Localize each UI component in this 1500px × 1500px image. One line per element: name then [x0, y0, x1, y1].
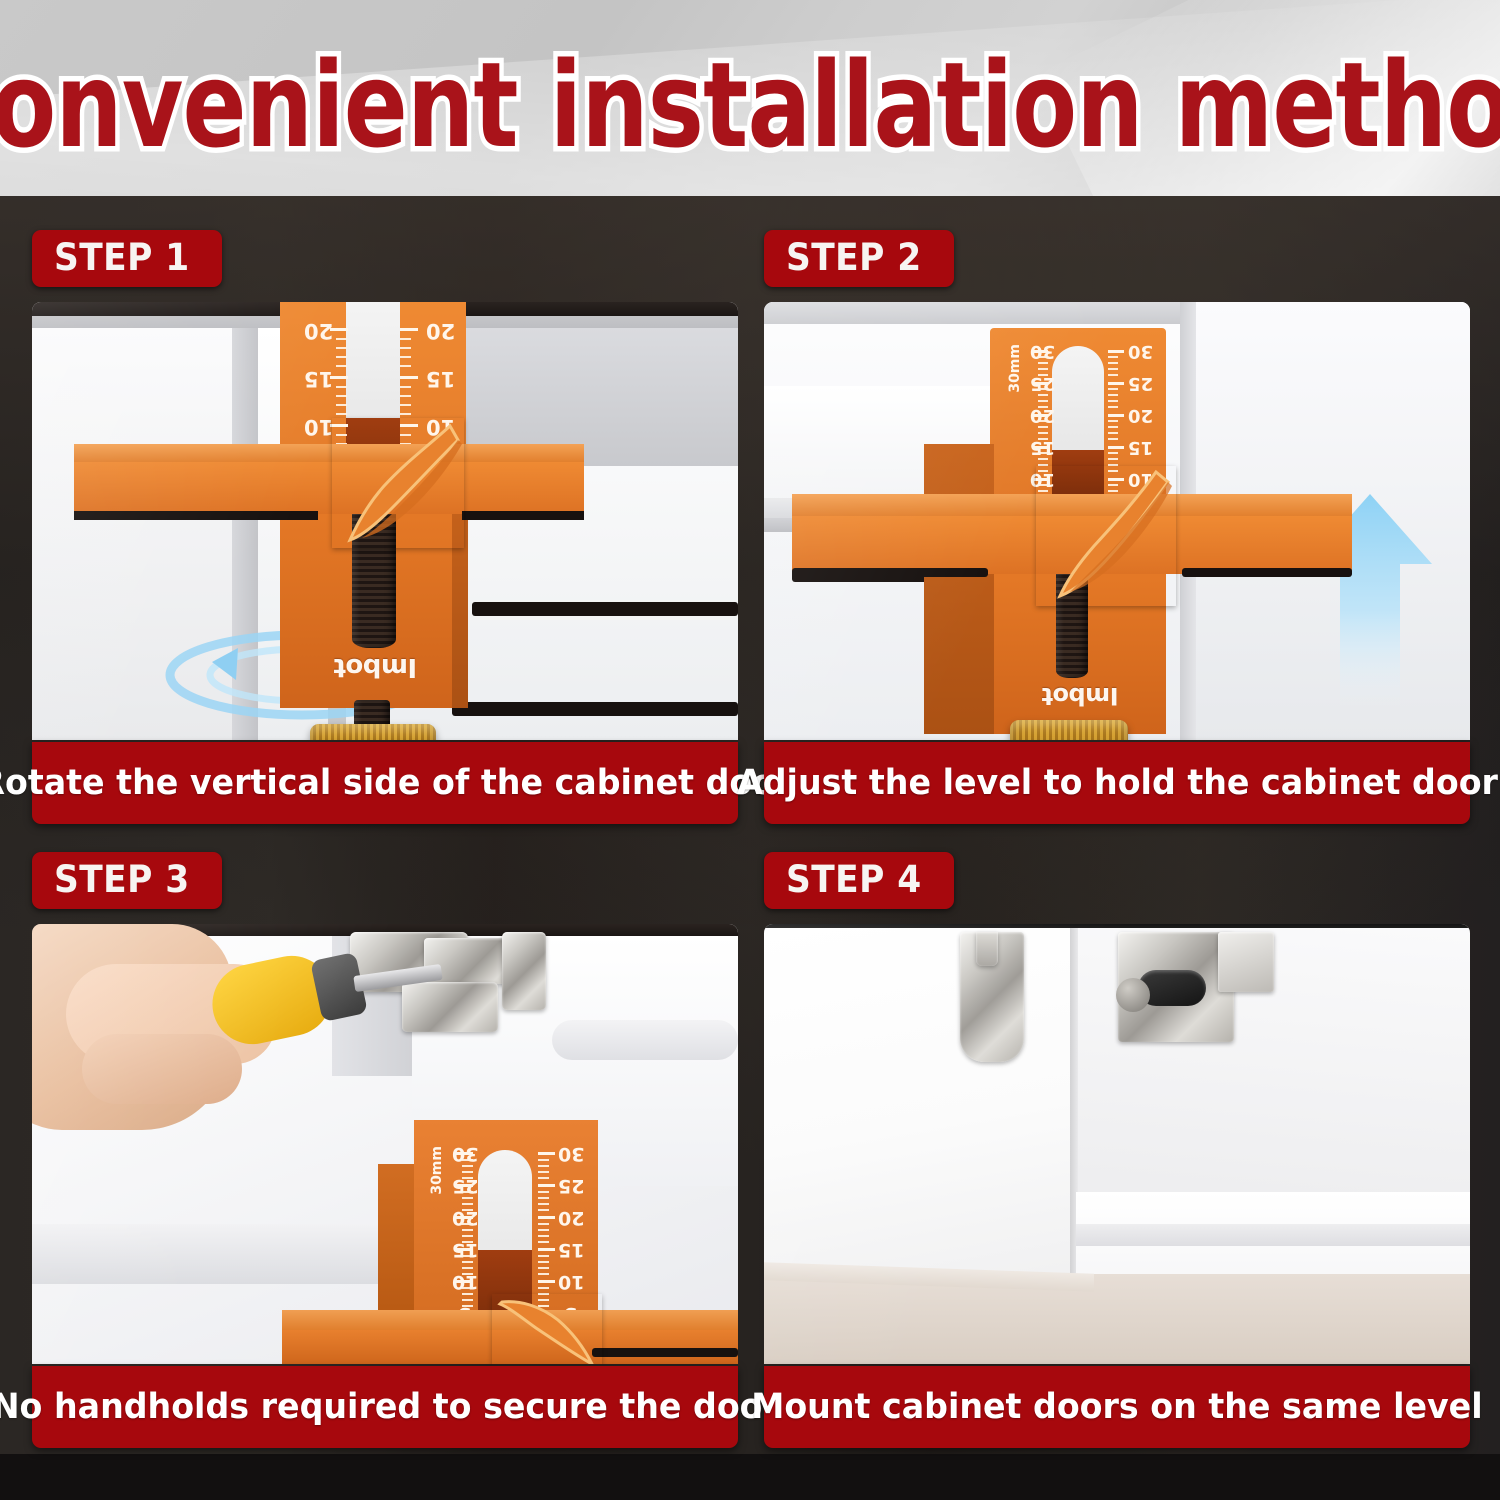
foam-strip	[552, 1020, 738, 1060]
drawer-handle-2	[452, 702, 738, 716]
step-badge-label-2: STEP 2	[786, 239, 922, 276]
step-photo-1: 20 15 10 5 0 20 15 10 5 0	[32, 302, 738, 740]
step-caption-text-3: No handholds required to secure the door	[0, 1387, 779, 1427]
scale-num-l-20: 20	[304, 320, 333, 341]
cabinet-hinge-base	[402, 982, 498, 1032]
cam-lever	[332, 418, 464, 548]
tool-arm-pad-3	[592, 1348, 738, 1357]
cabinet-hinge-plate	[502, 932, 546, 1010]
s2-num-r-25: 25	[1128, 374, 1153, 392]
step-caption-2: Adjust the level to hold the cabinet doo…	[764, 742, 1470, 824]
step-caption-1: Rotate the vertical side of the cabinet …	[32, 742, 738, 824]
tool-arm-face	[74, 462, 584, 514]
step-card-2: STEP 2	[756, 230, 1478, 836]
brass-knurled-knob	[310, 724, 436, 740]
step-badge-label-4: STEP 4	[786, 861, 922, 898]
page-title: Convenient installation method	[150, 0, 1350, 196]
brand-logo-2: Imbot	[1042, 684, 1119, 708]
cabinet-floor	[764, 1274, 1470, 1364]
scale-unit-label-3: 30mm	[430, 1146, 444, 1195]
step-photo-3: 30mm 30 25 20 15 10 5 0 30 25 20 15 10 5	[32, 924, 738, 1364]
s3-num-r-10: 10	[558, 1272, 584, 1291]
scale-num-l-10: 10	[304, 416, 333, 437]
scale-num-l-15: 15	[304, 368, 333, 389]
steps-grid: STEP 1	[0, 196, 1500, 1454]
scene-mounted-doors	[764, 924, 1470, 1364]
infographic-root: Convenient installation method STEP 1	[0, 0, 1500, 1500]
s3-num-r-20: 20	[558, 1208, 584, 1227]
s3-num-r-25: 25	[558, 1176, 584, 1195]
tool-arm-pad-right	[462, 511, 584, 520]
scale-unit-label-2: 30mm	[1008, 344, 1022, 393]
scale-num-r-15: 15	[426, 368, 455, 389]
hinge-pin-left	[976, 932, 998, 966]
step-badge-1: STEP 1	[32, 230, 222, 287]
scale-num-r-20: 20	[426, 320, 455, 341]
step-badge-4: STEP 4	[764, 852, 954, 909]
scene-adjust-level: 30mm 30 25 20 15 10 5 0 30 25 20 15 10 5	[764, 302, 1470, 740]
tool-back-flange	[924, 444, 994, 734]
step-photo-2: 30mm 30 25 20 15 10 5 0 30 25 20 15 10 5	[764, 302, 1470, 740]
step-caption-4: Mount cabinet doors on the same level	[764, 1366, 1470, 1448]
step-caption-text-4: Mount cabinet doors on the same level	[751, 1387, 1482, 1427]
step-card-1: STEP 1	[24, 230, 746, 836]
header-banner: Convenient installation method	[0, 0, 1500, 196]
step-badge-label-3: STEP 3	[54, 861, 190, 898]
s2-num-r-20: 20	[1128, 406, 1153, 424]
tool-arm-pad-left-2	[792, 568, 988, 577]
cam-lever-3	[492, 1294, 602, 1364]
footer-strip	[0, 1454, 1500, 1500]
scene-rotate-knob: 20 15 10 5 0 20 15 10 5 0	[32, 302, 738, 740]
cam-lever-2	[1036, 466, 1176, 606]
tool-arm-top	[74, 444, 584, 462]
scene-secure-door: 30mm 30 25 20 15 10 5 0 30 25 20 15 10 5	[32, 924, 738, 1364]
brass-knurled-knob-2	[1010, 720, 1128, 740]
hinge-wing-right	[1218, 932, 1274, 992]
tool-arm-pad-left	[74, 511, 318, 520]
hinge-screw-head	[1116, 978, 1150, 1012]
s2-num-r-15: 15	[1128, 438, 1153, 456]
s2-num-r-30: 30	[1128, 342, 1153, 360]
tool-arm-pad-right-2	[1182, 568, 1352, 577]
s3-num-r-15: 15	[558, 1240, 584, 1259]
bottom-shelf-edge	[1076, 1224, 1470, 1246]
step-badge-3: STEP 3	[32, 852, 222, 909]
brand-logo-1: Imbot	[334, 654, 417, 680]
step-caption-text-1: Rotate the vertical side of the cabinet …	[0, 763, 791, 803]
step-badge-label-1: STEP 1	[54, 239, 190, 276]
step-badge-2: STEP 2	[764, 230, 954, 287]
step-card-3: STEP 3	[24, 852, 746, 1454]
step-card-4: STEP 4	[756, 852, 1478, 1454]
s3-num-r-30: 30	[558, 1144, 584, 1163]
step-photo-4	[764, 924, 1470, 1364]
drawer-handle-1	[472, 602, 738, 616]
left-door-panel	[764, 928, 1076, 1284]
hand-thumb	[82, 1034, 242, 1104]
step-caption-text-2: Adjust the level to hold the cabinet doo…	[737, 763, 1498, 803]
step-caption-3: No handholds required to secure the door	[32, 1366, 738, 1448]
